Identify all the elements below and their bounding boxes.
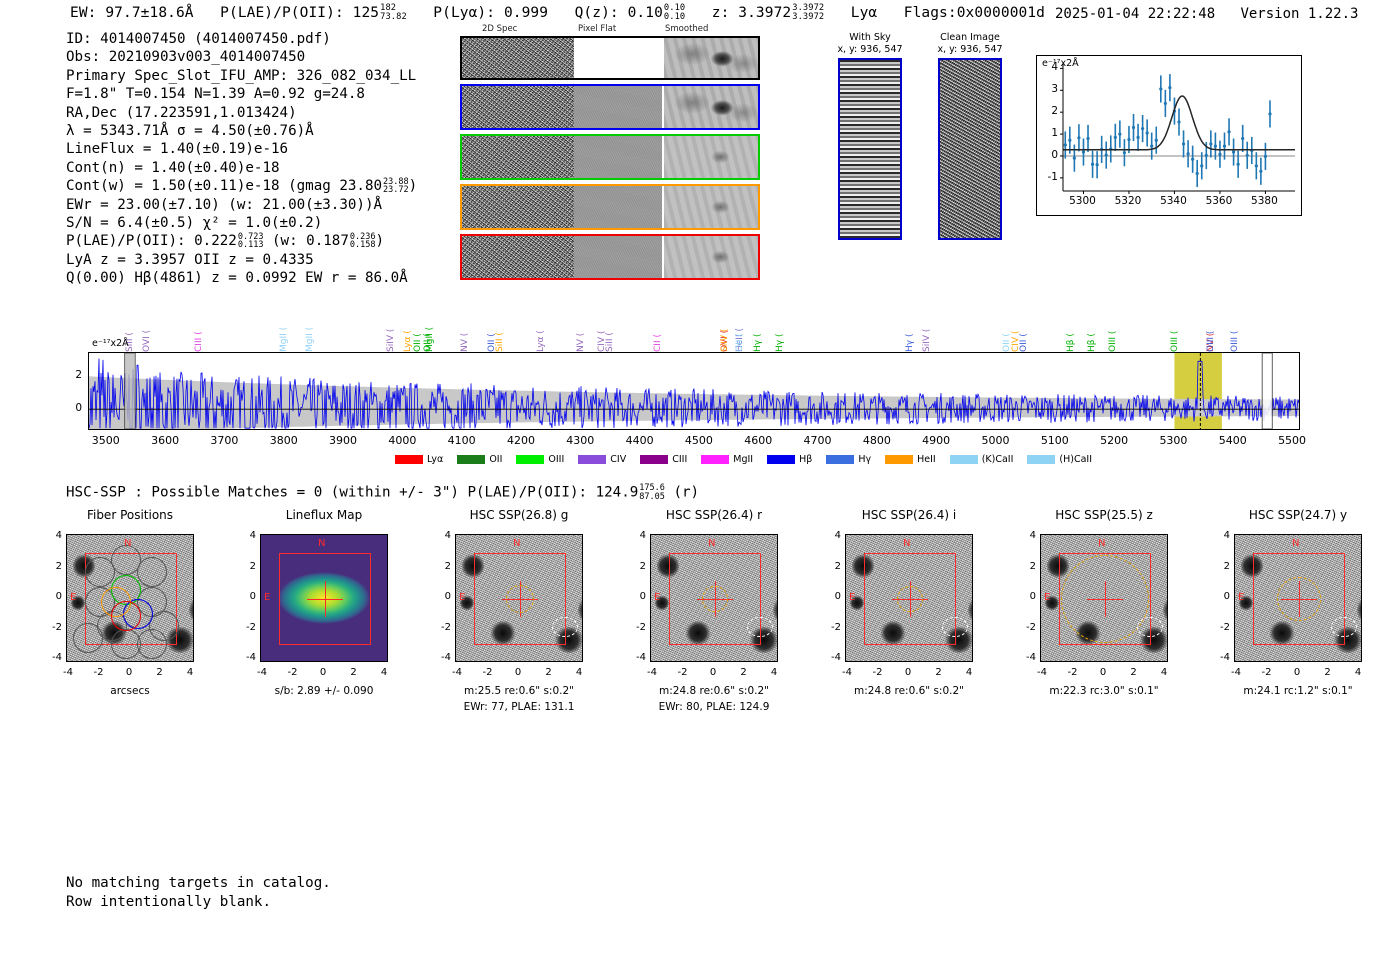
thumbnail-ytick: -4 [238,652,256,663]
contw-prefix: Cont(w) = 1.50(±0.11)e-18 (gmag 23.80 [66,178,382,194]
legend-label: (H)CaII [1059,454,1092,465]
emission-line-label: Lyα ( [536,304,546,352]
thumbnail-xtick: -2 [89,667,109,678]
qz-value: 0.10 [628,5,663,21]
info-line-primary-spec: Primary Spec_Slot_IFU_AMP: 326_082_034_L… [66,67,417,85]
emission-line-label: NV ( [460,304,470,352]
legend-swatch [640,455,668,464]
thumbnail-ytick: 0 [44,591,62,602]
thumbnail-xtick: 2 [1318,667,1338,678]
thumbnail-xtick: 2 [344,667,364,678]
fiber-pixelflat [574,136,662,178]
thumbnail-caption-secondary: EWr: 77, PLAE: 131.1 [429,700,609,714]
source-aperture-circle [897,586,923,612]
spectrum-line-labels: SiII (OVI (CIII (MgII (MgII (SiIV (Lyα (… [88,280,1300,352]
east-label: E [264,592,270,603]
catalog-header: HSC-SSP : Possible Matches = 0 (within +… [66,484,699,501]
thumbnail-xtick: 2 [929,667,949,678]
line-fit-ytick: 3 [1040,83,1058,95]
plae-lo: 73.82 [380,13,407,22]
sky-source-blob [1357,595,1362,625]
z-label: z: [712,5,730,21]
north-label: N [903,538,910,549]
cutout-image [938,58,1002,240]
info-line-lineflux: LineFlux = 1.40(±0.19)e-16 [66,140,417,158]
fiber-circle [137,557,167,587]
line-fit-ytick: 2 [1040,105,1058,117]
north-label: N [513,538,520,549]
z-value: 3.3972 [738,5,791,21]
thumbnail-ytick: 4 [44,530,62,541]
montage-weighted-sum-row: Weighted Sum [460,36,760,80]
emission-line-label: Hβ ( [1066,304,1076,352]
source-info-panel: ID: 4014007450 (4014007450.pdf) Obs: 202… [66,30,417,288]
info-line-id: ID: 4014007450 (4014007450.pdf) [66,30,417,48]
thumbnail-caption-secondary: EWr: 80, PLAE: 124.9 [624,700,804,714]
full-spectrum-plot [88,352,1300,430]
legend-label: CIV [610,454,626,465]
thumbnail-xtick: -2 [283,667,303,678]
full-spectrum-xtick: 5400 [1211,434,1255,447]
legend-label: OII [489,454,502,465]
thumbnail-caption-primary: m:24.8 re:0.6" s:0.2" [819,684,999,698]
legend-item: (H)CaII [1027,454,1092,465]
legend-swatch [885,455,913,464]
thumbnail-ytick: 4 [433,530,451,541]
thumbnail-xtick: -2 [868,667,888,678]
legend-item: Hβ [767,454,812,465]
emission-line-label: OII ( [735,282,745,352]
cutout-title: Clean Imagex, y: 936, 547 [910,32,1030,55]
info-line-seeing: F=1.8" T=0.154 N=1.39 A=0.92 g=24.8 [66,85,417,103]
thumbnail-xtick: 4 [1154,667,1174,678]
thumbnail-xtick: -4 [1032,667,1052,678]
fiber-circle [73,623,103,653]
plae-value: 125 [353,5,380,21]
thumbnail-image[interactable] [650,534,778,662]
legend-item: CIV [578,454,626,465]
emission-line-label: MgII ( [279,304,289,352]
plae-label: P(LAE)/P(OII): [220,5,344,21]
full-spectrum-xtick: 4300 [558,434,602,447]
plya-value: 0.999 [504,5,548,21]
spectra-montage: 2D Spec Pixel Flat Smoothed Weighted Sum… [460,36,760,284]
legend-swatch [950,455,978,464]
thumbnail-title: Lineflux Map [246,508,402,522]
thumbnail-caption-primary: m:24.1 rc:1.2" s:0.1" [1208,684,1388,698]
line-fit-plot: e⁻¹⁷x2Å [1036,55,1302,216]
emission-line-label: OIII ( [1230,304,1240,352]
montage-fiber-row: 0.332.081660.35"(936, 547)20210903v003_0… [460,84,760,130]
z-lo: 3.3972 [792,13,824,22]
contw-suffix: ) [409,178,418,194]
line-fit-xtick: 5380 [1249,195,1279,207]
thumbnail-ytick: 2 [238,561,256,572]
header-timestamp-block: 2025-01-04 22:22:48 Version 1.22.3 [1055,6,1358,22]
weighted-sum-2dspec [462,38,574,78]
montage-col-title-smoothed: Smoothed [665,24,708,34]
source-aperture-circle [1277,577,1321,621]
thumbnail-ytick: -4 [628,652,646,663]
emission-line-label: OII ( [413,304,423,352]
thumbnail-ytick: 4 [823,530,841,541]
info-plae-suffix: ) [375,233,384,249]
thumbnail-xtick: 0 [119,667,139,678]
thumbnail-image[interactable] [1234,534,1362,662]
east-label: E [654,592,660,603]
thumbnail-ytick: 2 [1018,561,1036,572]
full-spectrum-ylabel: e⁻¹⁷x2Å [92,338,129,349]
east-label: E [1238,592,1244,603]
north-label: N [1098,538,1105,549]
thumbnail-ytick: -4 [44,652,62,663]
cutout-coords: x, y: 936, 547 [910,44,1030,56]
full-spectrum-xtick: 3500 [84,434,128,447]
thumbnail-xtick: -4 [252,667,272,678]
thumbnail-xtick: 2 [734,667,754,678]
sky-source-blob [968,595,973,625]
fiber-smoothed [662,236,758,278]
thumbnail-ytick: -4 [433,652,451,663]
full-spectrum-canvas [89,353,1299,429]
thumbnail-xtick: 4 [180,667,200,678]
legend-item: OIII [516,454,564,465]
thumbnail-ytick: -4 [1018,652,1036,663]
thumbnail-image[interactable] [260,534,388,662]
legend-item: (K)CaII [950,454,1014,465]
montage-fiber-row: 0.121.041651.15"(936, 556)20210903v003_0… [460,134,760,180]
source-aperture-circle [702,586,728,612]
thumbnail-ytick: 4 [628,530,646,541]
legend-label: CIII [672,454,687,465]
info-line-snr: S/N = 6.4(±0.5) χ² = 1.0(±0.2) [66,214,417,232]
thumbnail-xtick: 4 [374,667,394,678]
full-spectrum-xtick: 4900 [914,434,958,447]
thumbnail-xtick: 4 [959,667,979,678]
thumbnail-image[interactable] [455,534,583,662]
thumbnail-title: HSC SSP(26.4) i [831,508,987,522]
legend-swatch [578,455,606,464]
fiber-2dspec [462,86,574,128]
line-fit-ytick: 4 [1040,61,1058,73]
sky-source-blob [1163,595,1168,625]
thumbnail-ytick: 0 [238,591,256,602]
source-aperture-circle [506,585,534,613]
version-label: Version 1.22.3 [1240,6,1358,22]
qz-lo: 0.10 [664,13,685,22]
east-label: E [459,592,465,603]
thumbnail-xtick: -4 [837,667,857,678]
thumbnail-xtick: 0 [1093,667,1113,678]
thumbnail-xtick: -4 [58,667,78,678]
ew-label: EW: [70,5,97,21]
full-spectrum-xtick: 5500 [1270,434,1314,447]
footer-note: No matching targets in catalog. Row inte… [66,874,331,911]
weighted-sum-smoothed [662,38,758,78]
east-label: E [849,592,855,603]
flags-value: Flags:0x0000001d [904,5,1045,21]
full-spectrum-xtick: 5200 [1092,434,1136,447]
thumbnail-xtick: 4 [764,667,784,678]
info-line-obs: Obs: 20210903v003_4014007450 [66,48,417,66]
emission-line-label: NV ( [576,304,586,352]
line-fit-ytick: -1 [1040,171,1058,183]
legend-swatch [1027,455,1055,464]
thumbnail-caption-primary: s/b: 2.89 +/- 0.090 [234,684,414,698]
emission-line-label: CIII ( [194,304,204,352]
thumbnail-ytick: 0 [1212,591,1230,602]
full-spectrum-xtick: 4000 [380,434,424,447]
thumbnail-xtick: 2 [539,667,559,678]
thumbnail-image[interactable] [66,534,194,662]
full-spectrum-xtick: 4600 [736,434,780,447]
emission-line-label: OIII ( [1170,304,1180,352]
line-fit-xtick: 5300 [1067,195,1097,207]
thumbnail-xtick: -4 [1226,667,1246,678]
legend-item: OII [457,454,502,465]
thumbnail-ytick: -2 [238,622,256,633]
emission-line-label: Hβ ( [1087,304,1097,352]
weighted-sum-pixelflat [574,38,662,78]
fiber-2dspec [462,236,574,278]
info-line-redshifts: LyA z = 3.3957 OII z = 0.4335 [66,251,417,269]
full-spectrum-xtick: 4700 [796,434,840,447]
thumbnail-ytick: 2 [433,561,451,572]
info-plae-mid: (w: 0.187 [272,233,349,249]
legend-label: Hβ [799,454,812,465]
full-spectrum-xtick: 3900 [321,434,365,447]
plya-label: P(Lyα): [433,5,495,21]
neighbor-aperture-circle [747,617,773,637]
thumbnail-title: Fiber Positions [52,508,208,522]
thumbnail-caption-primary: m:25.5 re:0.6" s:0.2" [429,684,609,698]
thumbnail-ytick: -2 [433,622,451,633]
east-label: E [70,592,76,603]
legend-label: HeII [917,454,936,465]
full-spectrum-xtick: 3700 [202,434,246,447]
legend-swatch [395,455,423,464]
montage-col-title-pixelflat: Pixel Flat [578,24,616,34]
thumbnail-xtick: 0 [1287,667,1307,678]
thumbnail-ytick: 0 [823,591,841,602]
thumbnail-ytick: -2 [823,622,841,633]
thumbnail-xtick: 0 [508,667,528,678]
highlighted-fiber-circle [111,601,141,631]
legend-item: HeII [885,454,936,465]
legend-label: MgII [733,454,753,465]
source-aperture-circle [1061,555,1149,643]
info-plae-prefix: P(LAE)/P(OII): 0.222 [66,233,237,249]
fiber-pixelflat [574,186,662,228]
info-line-ewr: EWr = 23.00(±7.10) (w: 21.00(±3.30))Å [66,196,417,214]
thumbnail-ytick: 2 [823,561,841,572]
full-spectrum-xtick: 5300 [1151,434,1195,447]
contw-lo: 23.72 [383,186,409,195]
fiber-pixelflat [574,236,662,278]
legend-swatch [457,455,485,464]
north-label: N [318,538,325,549]
thumbnail-xtick: 0 [703,667,723,678]
thumbnail-ytick: -2 [1212,622,1230,633]
emission-line-label: Hγ ( [905,304,915,352]
thumbnail-title: HSC SSP(26.8) g [441,508,597,522]
thumbnail-image[interactable] [1040,534,1168,662]
full-spectrum-xtick: 4500 [677,434,721,447]
neighbor-aperture-circle [552,617,578,637]
montage-col-title-2dspec: 2D Spec [482,24,517,34]
sky-source-blob [189,595,194,625]
emission-line-label: OIII ( [1108,304,1118,352]
info-plae-wlo: 0.158 [350,241,376,250]
thumbnail-ytick: 2 [628,561,646,572]
timestamp: 2025-01-04 22:22:48 [1055,6,1215,22]
full-spectrum-xtick: 5100 [1033,434,1077,447]
full-spectrum-ytick: 2 [62,369,82,381]
legend-item: MgII [701,454,753,465]
thumbnail-xtick: 4 [569,667,589,678]
thumbnail-caption-primary: m:24.8 re:0.6" s:0.2" [624,684,804,698]
info-line-lambda: λ = 5343.71Å σ = 4.50(±0.76)Å [66,122,417,140]
thumbnail-ytick: -2 [628,622,646,633]
fiber-2dspec [462,186,574,228]
thumbnail-xtick: 2 [150,667,170,678]
fiber-smoothed [662,136,758,178]
thumbnail-image[interactable] [845,534,973,662]
emission-line-label: SiIV ( [922,304,932,352]
line-fit-canvas [1037,56,1301,215]
ew-value: 97.7±18.6Å [105,5,193,21]
emission-line-label: OVI ( [142,304,152,352]
thumbnail-ytick: 0 [433,591,451,602]
thumbnail-ytick: 2 [44,561,62,572]
emission-line-label: OII ( [423,282,433,352]
thumbnail-xtick: -2 [1063,667,1083,678]
full-spectrum-xtick: 4400 [618,434,662,447]
catalog-title-prefix: HSC-SSP : Possible Matches = 0 (within +… [66,485,638,501]
legend-label: (K)CaII [982,454,1014,465]
north-label: N [124,538,131,549]
catalog-plae-suffix: (r) [673,485,699,501]
neighbor-aperture-circle [942,617,968,637]
fiber-pixelflat [574,86,662,128]
thumbnail-xtick: -2 [1257,667,1277,678]
full-spectrum-xtick: 4800 [855,434,899,447]
legend-swatch [826,455,854,464]
emission-line-label: OII ( [1002,304,1012,352]
thumbnail-title: HSC SSP(24.7) y [1220,508,1376,522]
east-label: E [1044,592,1050,603]
legend-swatch [701,455,729,464]
summary-header: EW: 97.7±18.6Å P(LAE)/P(OII): 12518273.8… [70,4,1045,22]
emission-line-label: CII ( [653,304,663,352]
full-spectrum-ytick: 0 [62,402,82,414]
montage-fiber-row: 0.092.521661.61"(936, 547)20210903v003_0… [460,234,760,280]
full-spectrum-xtick: 3600 [143,434,187,447]
line-fit-xtick: 5360 [1204,195,1234,207]
line-fit-xtick: 5340 [1158,195,1188,207]
thumbnail-ytick: 0 [628,591,646,602]
full-spectrum-xtick: 5000 [974,434,1018,447]
line-fit-ytick: 1 [1040,127,1058,139]
thumbnail-caption-primary: arcsecs [40,684,220,698]
sky-source-blob [578,595,583,625]
thumbnail-ytick: -4 [823,652,841,663]
crosshair-vertical [325,581,326,617]
emission-line-label: SiII ( [605,304,615,352]
legend-item: CIII [640,454,687,465]
z-line-name: Lyα [851,5,878,21]
thumbnail-ytick: -2 [1018,622,1036,633]
thumbnail-title: HSC SSP(25.5) z [1026,508,1182,522]
thumbnail-ytick: 0 [1018,591,1036,602]
thumbnail-xtick: -4 [447,667,467,678]
catalog-plae-lo: 87.05 [639,493,665,502]
emission-line-label: MgII ( [305,304,315,352]
thumbnail-ytick: 4 [1212,530,1230,541]
emission-line-label: OIII ( [1206,282,1216,352]
emission-line-label: SiIV ( [720,282,730,352]
legend-item: Lyα [395,454,443,465]
sky-source-blob [773,595,778,625]
full-spectrum-xtick: 4100 [440,434,484,447]
emission-line-label: SiII ( [495,304,505,352]
thumbnail-xtick: 4 [1348,667,1368,678]
legend-item: Hγ [826,454,871,465]
cutout-image [838,58,902,240]
info-line-plae: P(LAE)/P(OII): 0.2220.7230.113 (w: 0.187… [66,232,417,250]
thumbnail-ytick: -4 [1212,652,1230,663]
info-line-radec: RA,Dec (17.223591,1.013424) [66,104,417,122]
info-plae-lo: 0.113 [238,241,264,250]
montage-fiber-rows: 0.332.081660.35"(936, 547)20210903v003_0… [460,84,760,280]
thumbnail-ytick: 4 [238,530,256,541]
emission-line-label: Lyα ( [403,304,413,352]
thumbnail-caption-primary: m:22.3 rc:3.0" s:0.1" [1014,684,1194,698]
thumbnail-xtick: 2 [1124,667,1144,678]
legend-label: Lyα [427,454,443,465]
info-line-contw: Cont(w) = 1.50(±0.11)e-18 (gmag 23.8023.… [66,177,417,195]
thumbnail-title: HSC SSP(26.4) r [636,508,792,522]
emission-line-label: Hγ ( [753,304,763,352]
fiber-smoothed [662,86,758,128]
line-fit-xtick: 5320 [1113,195,1143,207]
full-spectrum-xtick: 4200 [499,434,543,447]
thumbnail-ytick: -2 [44,622,62,633]
fiber-2dspec [462,136,574,178]
line-fit-ytick: 0 [1040,149,1058,161]
full-spectrum-xtick: 3800 [262,434,306,447]
thumbnail-xtick: 0 [313,667,333,678]
emission-line-label: Hγ ( [775,304,785,352]
thumbnail-ytick: 2 [1212,561,1230,572]
legend-swatch [516,455,544,464]
thumbnail-ytick: 4 [1018,530,1036,541]
neighbor-aperture-circle [1331,617,1357,637]
spectrum-legend: LyαOIIOIIICIVCIIIMgIIHβHγHeII(K)CaII(H)C… [395,454,1092,465]
thumbnail-xtick: -2 [478,667,498,678]
fiber-smoothed [662,186,758,228]
north-label: N [708,538,715,549]
fiber-circle [137,629,167,659]
thumbnail-xtick: 0 [898,667,918,678]
north-label: N [1292,538,1299,549]
legend-label: Hγ [858,454,871,465]
footer-line-1: No matching targets in catalog. [66,874,331,893]
footer-line-2: Row intentionally blank. [66,893,331,912]
thumbnail-xtick: -2 [673,667,693,678]
thumbnail-xtick: -4 [642,667,662,678]
cutout-name: Clean Image [910,32,1030,44]
